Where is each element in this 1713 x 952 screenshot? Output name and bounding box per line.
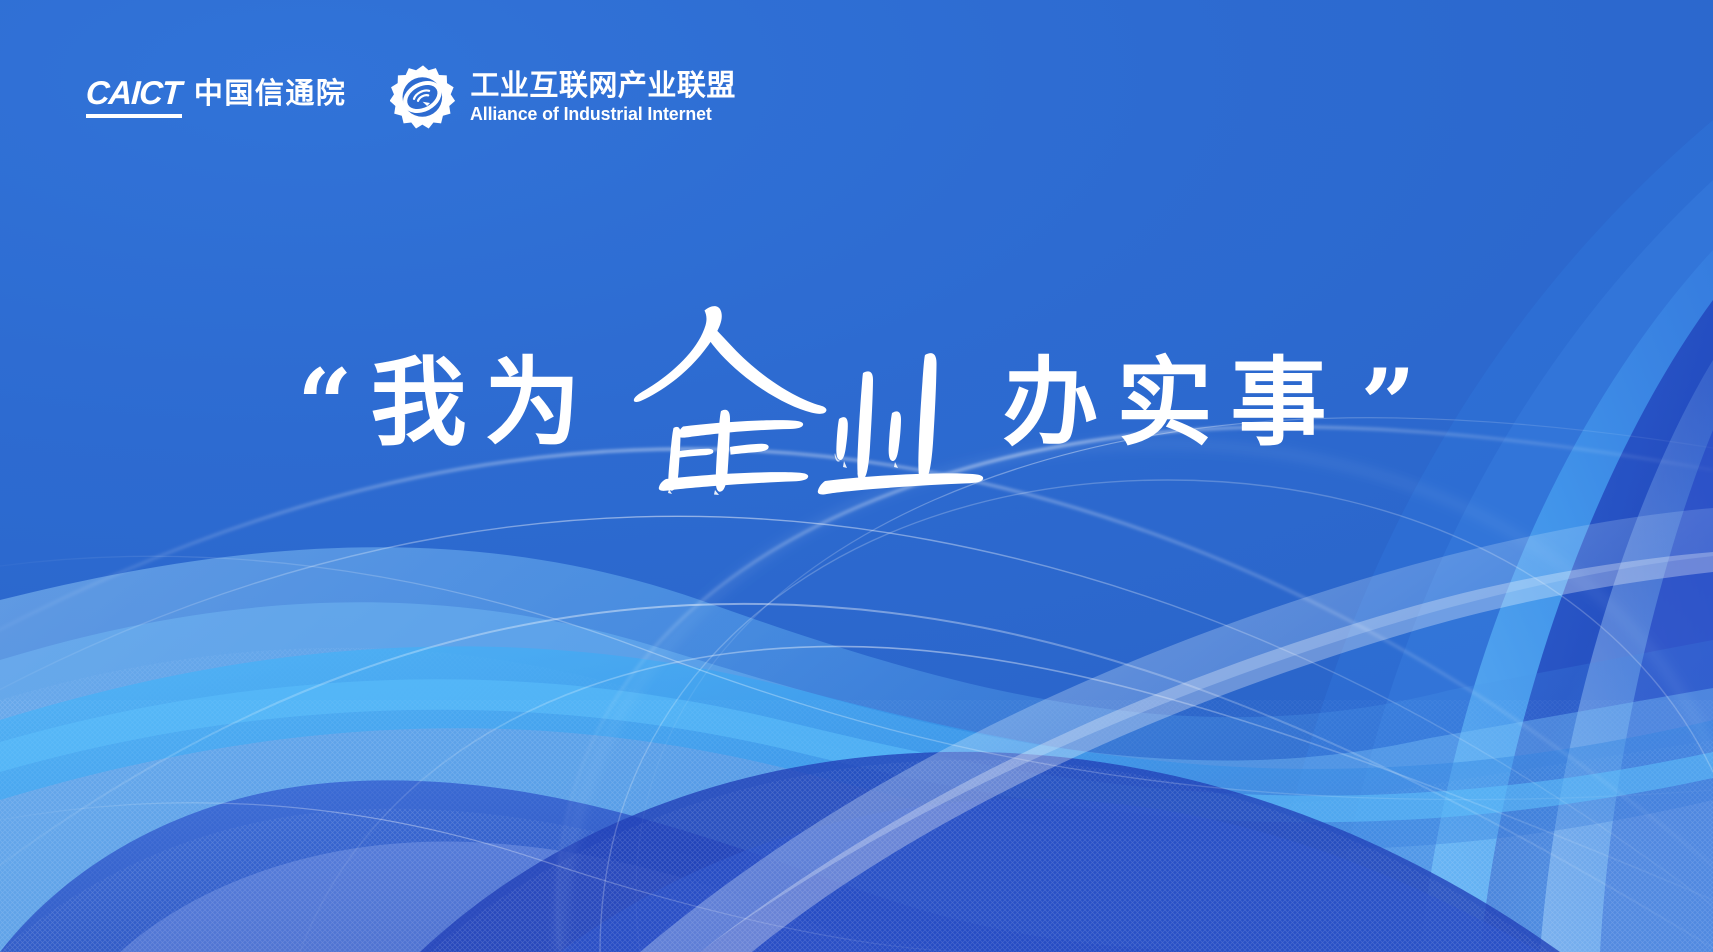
caict-underline-mark: CAICT — [86, 76, 181, 118]
alliance-name-en: Alliance of Industrial Internet — [470, 105, 725, 124]
alliance-text-block: 工业互联网产业联盟 Alliance of Industrial Interne… — [470, 71, 736, 124]
banner-stage: CAICT 中国信通院 — [0, 0, 1713, 952]
gear-wifi-icon — [390, 64, 456, 130]
logo-caict: CAICT 中国信通院 — [86, 76, 346, 118]
caict-name-cn: 中国信通院 — [194, 79, 347, 118]
caict-wordmark: CAICT — [85, 76, 182, 109]
logo-alliance-of-industrial-internet: 工业互联网产业联盟 Alliance of Industrial Interne… — [390, 64, 736, 130]
background-waves — [0, 0, 1713, 952]
alliance-name-cn: 工业互联网产业联盟 — [470, 71, 736, 100]
logo-bar: CAICT 中国信通院 — [86, 64, 736, 130]
caict-underline — [86, 114, 182, 118]
